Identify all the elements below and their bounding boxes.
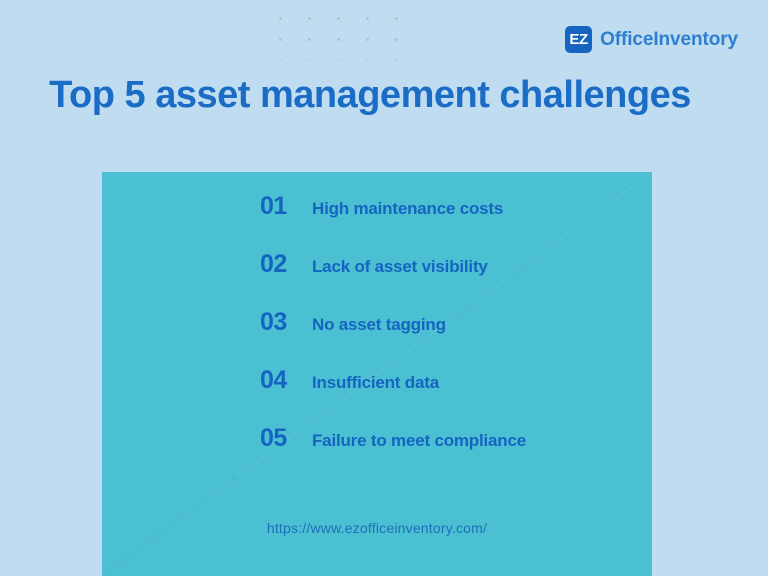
list-item-number: 04	[260, 366, 312, 395]
brand-name-label: OfficeInventory	[600, 29, 738, 51]
list-item-number: 03	[260, 308, 312, 337]
dot-grid-decoration	[266, 8, 406, 60]
list-item: 04 Insufficient data	[260, 366, 652, 424]
list-item-label: Lack of asset visibility	[312, 257, 488, 277]
infographic-poster: EZ OfficeInventory Top 5 asset managemen…	[0, 0, 768, 576]
list-item-label: Failure to meet compliance	[312, 431, 526, 451]
list-item: 05 Failure to meet compliance	[260, 424, 652, 482]
list-item-label: No asset tagging	[312, 315, 446, 335]
page-title: Top 5 asset management challenges	[0, 70, 740, 120]
list-item-number: 01	[260, 192, 312, 221]
list-item-number: 05	[260, 424, 312, 453]
challenges-list: 01 High maintenance costs 02 Lack of ass…	[260, 192, 652, 482]
list-item: 02 Lack of asset visibility	[260, 250, 652, 308]
brand-logo: EZ OfficeInventory	[565, 26, 738, 53]
list-item-label: High maintenance costs	[312, 199, 503, 219]
ez-logo-icon: EZ	[565, 26, 592, 53]
visual-panel: 01 High maintenance costs 02 Lack of ass…	[102, 172, 652, 576]
list-item: 03 No asset tagging	[260, 308, 652, 366]
list-item-label: Insufficient data	[312, 373, 439, 393]
list-item-number: 02	[260, 250, 312, 279]
list-item: 01 High maintenance costs	[260, 192, 652, 250]
website-url[interactable]: https://www.ezofficeinventory.com/	[102, 520, 652, 536]
